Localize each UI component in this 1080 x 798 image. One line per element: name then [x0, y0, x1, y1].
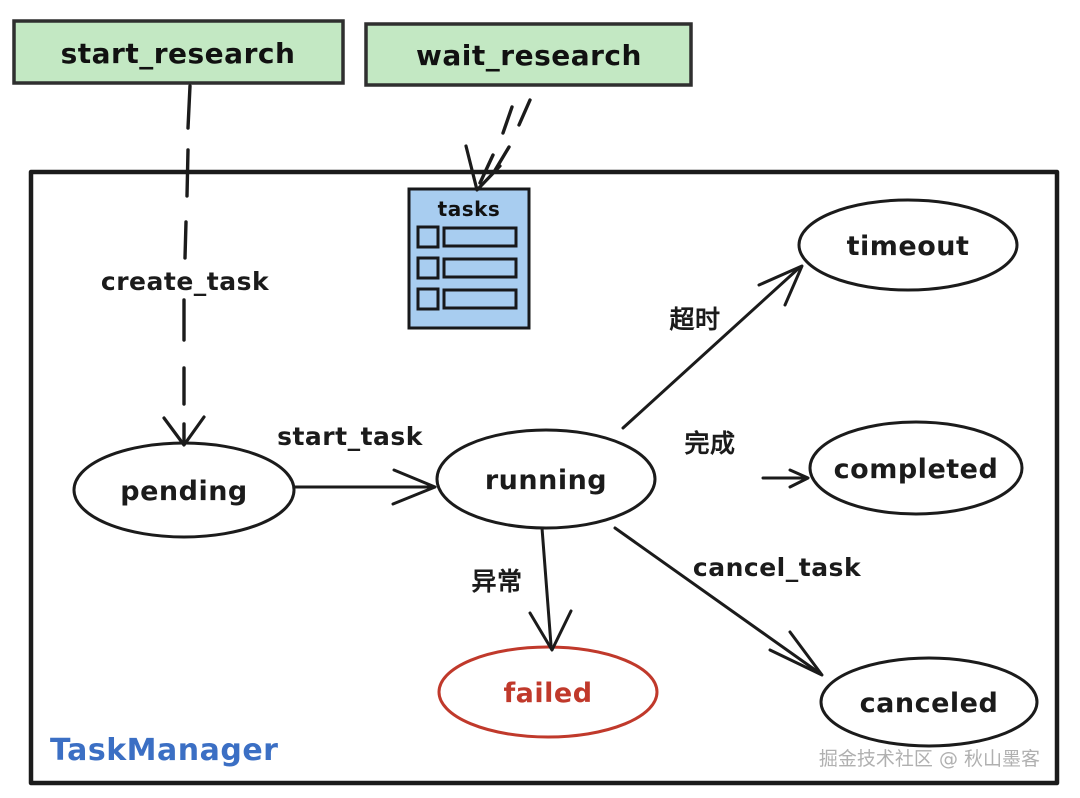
state-failed-label: failed — [503, 678, 592, 709]
tasks-store-label: tasks — [438, 197, 501, 221]
state-timeout-label: timeout — [847, 231, 970, 262]
state-running-label: running — [485, 465, 607, 496]
edge-start-task-label: start_task — [277, 422, 424, 451]
state-completed-label: completed — [834, 454, 999, 485]
edge-timeout-label: 超时 — [669, 305, 720, 334]
start-research-box-label: start_research — [61, 37, 296, 70]
diagram-text-layer: start_research wait_research tasks pendi… — [0, 0, 1080, 798]
diagram-canvas: start_research wait_research tasks pendi… — [0, 0, 1080, 798]
state-pending-label: pending — [120, 476, 248, 507]
taskmanager-container-label: TaskManager — [50, 733, 278, 768]
wait-research-box-label: wait_research — [416, 39, 642, 72]
edge-completed-label: 完成 — [684, 429, 735, 458]
edge-failed-label: 异常 — [471, 567, 522, 596]
watermark-text: 掘金技术社区 @ 秋山墨客 — [819, 748, 1040, 770]
edge-cancel-task-label: cancel_task — [693, 553, 862, 582]
edge-create-task-label: create_task — [101, 267, 270, 296]
state-canceled-label: canceled — [860, 688, 999, 719]
